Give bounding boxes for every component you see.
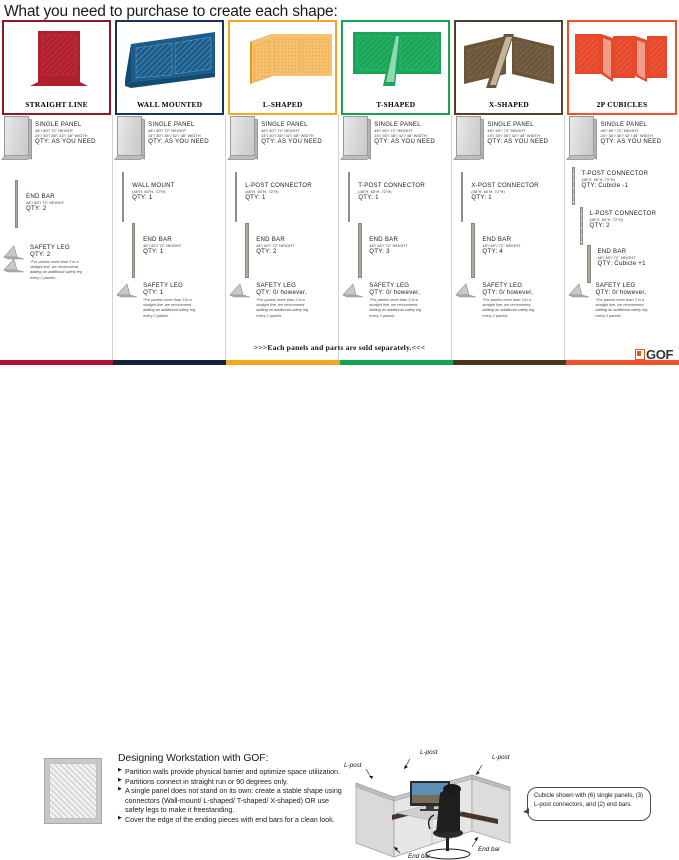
item-qty: QTY: 1 [245, 195, 312, 202]
column-2p-cubicles: 2P CUBICLES SINGLE PANEL 48"/ 60"/ 72" H… [565, 20, 678, 360]
column-body-2p-cubicles: SINGLE PANEL 48"/ 60"/ 72" HEIGHT 24"/ 3… [565, 115, 678, 360]
list-item: SINGLE PANEL 48"/ 60"/ 72" HEIGHT 24"/ 3… [340, 116, 435, 164]
list-item: SAFETY LEG QTY: 0/ however, *For panels … [228, 283, 316, 319]
item-qty: QTY: 4 [482, 249, 520, 256]
single-panel-icon [1, 116, 34, 164]
end-bar-icon [10, 180, 24, 228]
list-item: END BAR 48"/ 60"/ 72" HEIGHT QTY: 2 [240, 223, 294, 278]
item-note: *For panels more than 3 in a straight li… [482, 298, 542, 319]
item-note: *For panels more than 3 in a straight li… [595, 298, 655, 319]
thumbnail-label: L-SHAPED [230, 100, 335, 109]
single-panel-icon [340, 116, 373, 164]
bullet-text: Partitions connect in straight run or 90… [125, 777, 348, 786]
item-qty: QTY: AS YOU NEED [261, 139, 322, 146]
single-panel-icon [227, 116, 260, 164]
item-qty: QTY: 3 [369, 249, 407, 256]
label-lpost-right: L-post [492, 754, 510, 761]
design-heading: Designing Workstation with GOF: [118, 753, 348, 764]
document-logo-icon [635, 349, 645, 360]
safety-leg-icon [454, 283, 480, 298]
safety-leg-icon [228, 283, 254, 298]
list-item: SINGLE PANEL 48"/ 60"/ 72" HEIGHT 24"/ 3… [114, 116, 209, 164]
thumbnail-x-shaped[interactable]: X-SHAPED [454, 20, 563, 115]
l-post-connector-icon [574, 207, 588, 245]
gof-logo: GOF [635, 347, 673, 362]
list-item: SAFETY LEG QTY: 0/ however, *For panels … [454, 283, 542, 319]
item-qty: QTY: 1 [358, 195, 425, 202]
gof-logo-text: GOF [646, 347, 673, 362]
item-qty: QTY: 2 [589, 223, 656, 230]
design-bullet-list: Partition walls provide physical barrier… [118, 767, 348, 824]
item-qty: QTY: 2 [256, 249, 294, 256]
list-item: SAFETY LEG QTY: 2 *For panels more than … [2, 245, 90, 281]
bullet-text: Partition walls provide physical barrier… [125, 767, 348, 776]
list-item: SINGLE PANEL 48"/ 60"/ 72" HEIGHT 24"/ 3… [566, 116, 661, 164]
list-item: SAFETY LEG QTY: 1 *For panels more than … [115, 283, 203, 319]
thumbnail-label: 2P CUBICLES [569, 100, 674, 109]
item-qty: QTY: AS YOU NEED [35, 139, 96, 146]
column-straight-line: STRAIGHT LINE SINGLE PANEL 48"/ 60"/ 72"… [0, 20, 113, 360]
panel-swatch-image [44, 758, 102, 824]
t-post-connector-icon [566, 167, 580, 205]
wall-mounted-illustration [117, 24, 224, 92]
label-endbar-right: End bar [478, 846, 500, 853]
sold-separately-note: >>>Each panels and parts are sold separa… [0, 343, 679, 352]
item-qty: QTY: 1 [143, 249, 181, 256]
label-lpost-mid: L-post [420, 749, 438, 756]
end-bar-icon [466, 223, 480, 278]
page-title: What you need to purchase to create each… [0, 0, 679, 20]
list-item: T-POST CONNECTOR (48"H, 60"H, 72"H) QTY:… [342, 172, 425, 222]
list-item: SAFETY LEG QTY: 0/ however, *For panels … [567, 283, 655, 319]
item-note: *For panels more than 3 in a straight li… [30, 260, 90, 281]
label-endbar-left: End bar [408, 853, 430, 860]
list-item: SINGLE PANEL 48"/ 60"/ 72" HEIGHT 24"/ 3… [227, 116, 322, 164]
thumbnail-label: WALL MOUNTED [117, 100, 222, 109]
shape-requirements-grid: STRAIGHT LINE SINGLE PANEL 48"/ 60"/ 72"… [0, 20, 679, 360]
list-item: Partitions connect in straight run or 90… [118, 777, 348, 786]
column-x-shaped: X-SHAPED SINGLE PANEL 48"/ 60"/ 72" HEIG… [452, 20, 565, 360]
cubicle-callout-box: Cubicle shown with (6) single panels, (3… [527, 787, 651, 821]
callout-text: Cubicle shown with (6) single panels, (3… [528, 788, 650, 810]
item-note: *For panels more than 3 in a straight li… [369, 298, 429, 319]
thumbnail-wall-mounted[interactable]: WALL MOUNTED [115, 20, 224, 115]
thumbnail-straight-line[interactable]: STRAIGHT LINE [2, 20, 111, 115]
list-item: T-POST CONNECTOR (48"H, 60"H, 72"H) QTY:… [566, 167, 648, 205]
item-qty: QTY: AS YOU NEED [487, 139, 548, 146]
item-qty: QTY: Cubicle +1 [597, 261, 645, 268]
list-item: SAFETY LEG QTY: 0/ however, *For panels … [341, 283, 429, 319]
thumbnail-label: STRAIGHT LINE [4, 100, 109, 109]
item-qty: QTY: 1 [471, 195, 538, 202]
item-qty: QTY: 2 [26, 206, 64, 213]
item-qty: QTY: AS YOU NEED [148, 139, 209, 146]
item-qty: QTY: 0/ however, [482, 290, 542, 297]
end-bar-icon [127, 223, 141, 278]
design-text-block: Designing Workstation with GOF: Partitio… [118, 753, 348, 824]
list-item: SINGLE PANEL 48"/ 60"/ 72" HEIGHT 24"/ 3… [1, 116, 96, 164]
safety-leg-icon [2, 245, 28, 273]
design-guidance-section: Designing Workstation with GOF: Partitio… [0, 365, 679, 493]
end-bar-icon [240, 223, 254, 278]
single-panel-icon [453, 116, 486, 164]
item-qty: QTY: 0/ however, [595, 290, 655, 297]
thumbnail-l-shaped[interactable]: L-SHAPED [228, 20, 337, 115]
end-bar-icon [353, 223, 367, 278]
column-l-shaped: L-SHAPED SINGLE PANEL 48"/ 60"/ 72" HEIG… [226, 20, 339, 360]
list-item: END BAR 48"/ 60"/ 72" HEIGHT QTY: 2 [10, 180, 64, 228]
list-item: L-POST CONNECTOR (48"H, 60"H, 72"H) QTY:… [574, 207, 656, 245]
column-body-x-shaped: SINGLE PANEL 48"/ 60"/ 72" HEIGHT 24"/ 3… [452, 115, 565, 360]
list-item: SINGLE PANEL 48"/ 60"/ 72" HEIGHT 24"/ 3… [453, 116, 548, 164]
list-item: Cover the edge of the ending pieces with… [118, 815, 348, 824]
column-body-t-shaped: SINGLE PANEL 48"/ 60"/ 72" HEIGHT 24"/ 3… [339, 115, 452, 360]
item-qty: QTY: 1 [132, 195, 175, 202]
cubicles-illustration [569, 24, 676, 92]
item-qty: QTY: 0/ however, [256, 290, 316, 297]
straight-line-illustration [4, 24, 111, 92]
thumbnail-label: X-SHAPED [456, 100, 561, 109]
x-post-connector-icon [455, 172, 469, 222]
bullet-text: Cover the edge of the ending pieces with… [125, 815, 348, 824]
x-shaped-illustration [456, 24, 563, 92]
cubicle-workstation-illustration [352, 757, 542, 860]
list-item: END BAR 48"/ 60"/ 72" HEIGHT QTY: 1 [127, 223, 181, 278]
list-item: END BAR 48"/ 60"/ 72" HEIGHT QTY: 4 [466, 223, 520, 278]
column-t-shaped: T-SHAPED SINGLE PANEL 48"/ 60"/ 72" HEIG… [339, 20, 452, 360]
t-post-connector-icon [342, 172, 356, 222]
item-qty: QTY: 2 [30, 252, 90, 259]
list-item: L-POST CONNECTOR (48"H, 60"H, 72"H) QTY:… [229, 172, 312, 222]
thumbnail-label: T-SHAPED [343, 100, 448, 109]
l-shaped-illustration [230, 24, 337, 92]
safety-leg-icon [341, 283, 367, 298]
item-qty: QTY: Cubicle -1 [581, 183, 648, 190]
safety-leg-icon [567, 283, 593, 298]
list-item: Partition walls provide physical barrier… [118, 767, 348, 776]
column-wall-mounted: WALL MOUNTED SINGLE PANEL 48"/ 60"/ 72" … [113, 20, 226, 360]
l-post-connector-icon [229, 172, 243, 222]
item-note: *For panels more than 3 in a straight li… [143, 298, 203, 319]
item-qty: QTY: AS YOU NEED [374, 139, 435, 146]
item-qty: QTY: 0/ however, [369, 290, 429, 297]
t-shaped-illustration [343, 24, 450, 92]
thumbnail-2p-cubicles[interactable]: 2P CUBICLES [567, 20, 676, 115]
list-item: END BAR 48"/ 60"/ 72" HEIGHT QTY: 3 [353, 223, 407, 278]
single-panel-icon [114, 116, 147, 164]
safety-leg-icon [115, 283, 141, 298]
label-lpost-left: L-post [344, 762, 362, 769]
wall-mount-icon [116, 172, 130, 222]
column-body-straight-line: SINGLE PANEL 48"/ 60"/ 72" HEIGHT 24"/ 3… [0, 115, 113, 360]
column-body-wall-mounted: SINGLE PANEL 48"/ 60"/ 72" HEIGHT 24"/ 3… [113, 115, 226, 360]
item-qty: QTY: AS YOU NEED [600, 139, 661, 146]
bullet-text: A single panel does not stand on its own… [125, 786, 348, 814]
single-panel-icon [566, 116, 599, 164]
thumbnail-t-shaped[interactable]: T-SHAPED [341, 20, 450, 115]
end-bar-icon [582, 245, 596, 283]
list-item: WALL MOUNT (48"H, 60"H, 72"H) QTY: 1 [116, 172, 175, 222]
item-qty: QTY: 1 [143, 290, 203, 297]
column-body-l-shaped: SINGLE PANEL 48"/ 60"/ 72" HEIGHT 24"/ 3… [226, 115, 339, 360]
list-item: END BAR 48"/ 60"/ 72" HEIGHT QTY: Cubicl… [582, 245, 645, 283]
list-item: X-POST CONNECTOR (48"H, 60"H, 72"H) QTY:… [455, 172, 538, 222]
item-note: *For panels more than 3 in a straight li… [256, 298, 316, 319]
list-item: A single panel does not stand on its own… [118, 786, 348, 814]
